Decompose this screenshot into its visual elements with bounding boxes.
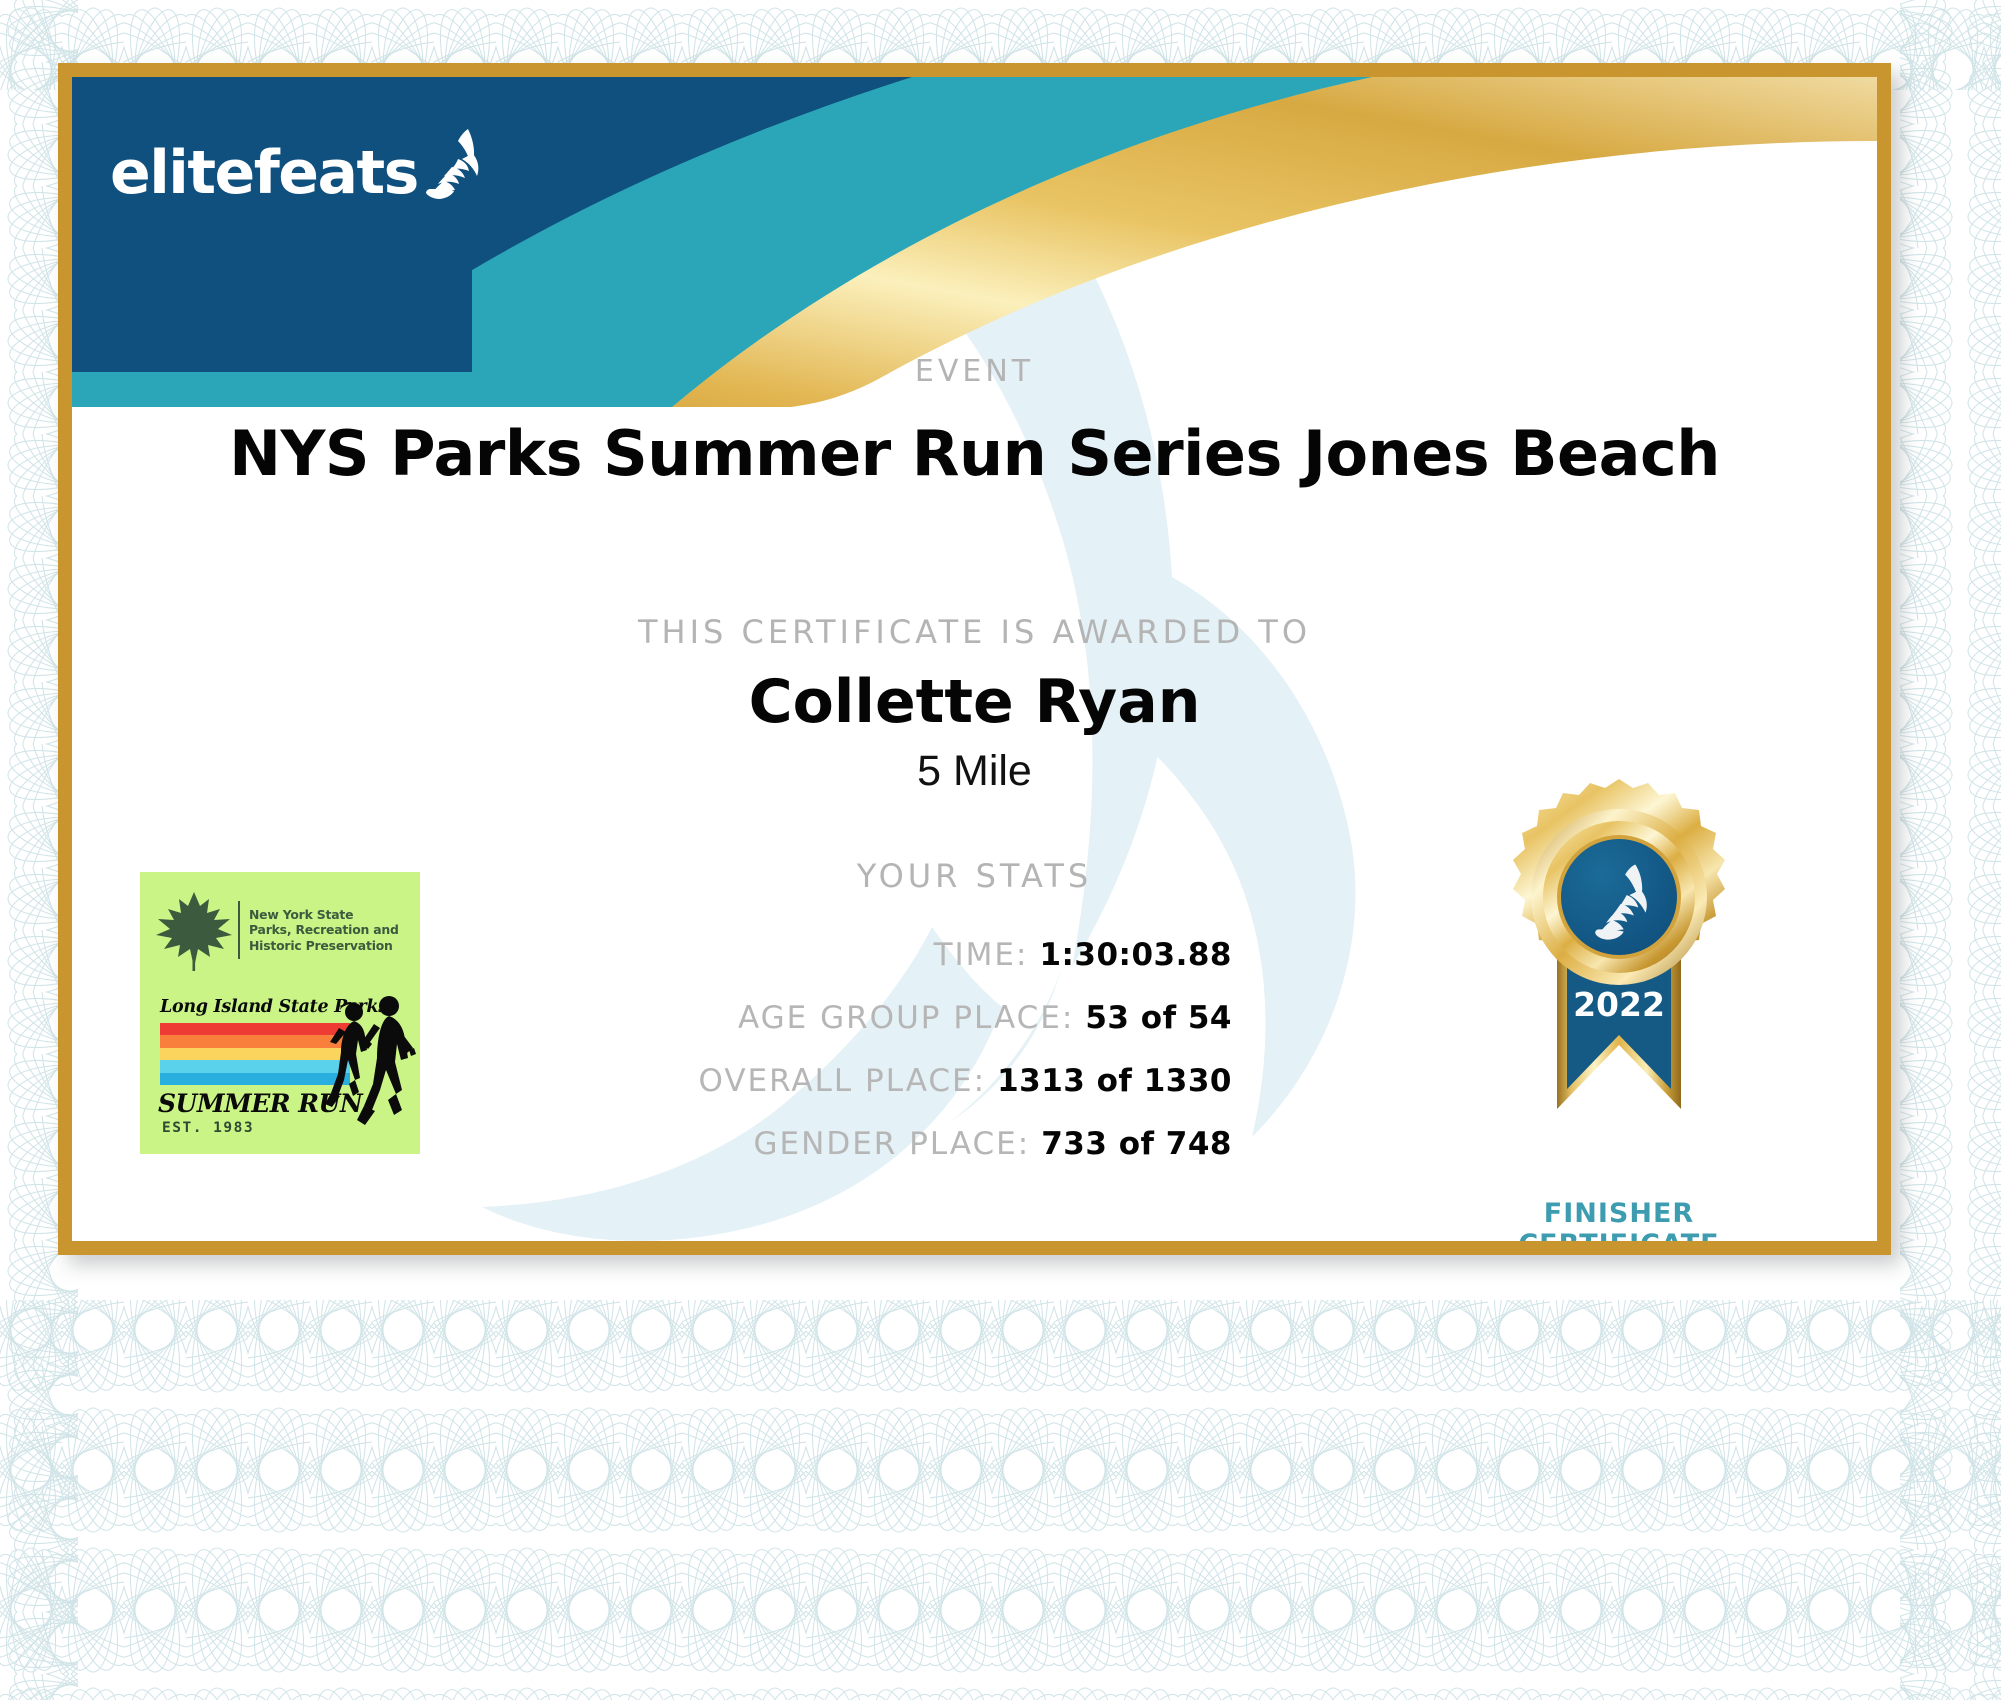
table-row: GENDER PLACE: 733 of 748 — [332, 1126, 1232, 1162]
recipient-name: Collette Ryan — [72, 667, 1877, 737]
agency-line-3: Historic Preservation — [249, 938, 399, 954]
table-row: TIME: 1:30:03.88 — [332, 937, 1232, 973]
stat-value: 53 of 54 — [1085, 1000, 1232, 1036]
table-row: OVERALL PLACE: 1313 of 1330 — [332, 1063, 1232, 1099]
medal-caption: FINISHER CERTIFICATE — [1454, 1198, 1784, 1241]
event-title: NYS Parks Summer Run Series Jones Beach — [72, 417, 1877, 490]
runners-silhouette-icon — [320, 992, 420, 1152]
agency-line-1: New York State — [249, 907, 399, 923]
sponsor-logo-long-island-state-parks: New York State Parks, Recreation and His… — [140, 872, 420, 1154]
sponsor-divider — [238, 901, 240, 959]
sponsor-agency-block: New York State Parks, Recreation and His… — [140, 884, 420, 976]
medal-caption-line-2: CERTIFICATE — [1454, 1229, 1784, 1241]
finisher-medal: 2022 FINISHER CERTIFICATE — [1454, 777, 1784, 1241]
stat-value: 1:30:03.88 — [1039, 937, 1232, 973]
sponsor-established: EST. 1983 — [162, 1120, 254, 1136]
agency-line-2: Parks, Recreation and — [249, 922, 399, 938]
sponsor-agency-name: New York State Parks, Recreation and His… — [249, 907, 399, 954]
medal-caption-line-1: FINISHER — [1454, 1198, 1784, 1229]
maple-leaf-icon — [154, 889, 234, 971]
stat-key: OVERALL PLACE: — [699, 1063, 987, 1099]
medal-year: 2022 — [1573, 985, 1665, 1024]
stat-value: 733 of 748 — [1041, 1126, 1232, 1162]
stat-key: AGE GROUP PLACE: — [738, 1000, 1074, 1036]
sponsor-series-block: Long Island State Parks SUMMER RUN EST. … — [140, 992, 420, 1152]
certificate-page: elitefeats EVENT NYS Parks Summ — [0, 0, 2001, 1700]
certificate-frame: elitefeats EVENT NYS Parks Summ — [58, 63, 1891, 1255]
stat-value: 1313 of 1330 — [997, 1063, 1232, 1099]
table-row: AGE GROUP PLACE: 53 of 54 — [332, 1000, 1232, 1036]
rosette-badge-icon: 2022 — [1499, 777, 1739, 1189]
awarded-to-label: THIS CERTIFICATE IS AWARDED TO — [72, 613, 1877, 651]
event-label: EVENT — [72, 354, 1877, 389]
stat-key: GENDER PLACE: — [754, 1126, 1031, 1162]
stat-key: TIME: — [934, 937, 1029, 973]
stats-table: TIME: 1:30:03.88 AGE GROUP PLACE: 53 of … — [332, 937, 1232, 1189]
certificate-body: elitefeats EVENT NYS Parks Summ — [72, 77, 1877, 1241]
